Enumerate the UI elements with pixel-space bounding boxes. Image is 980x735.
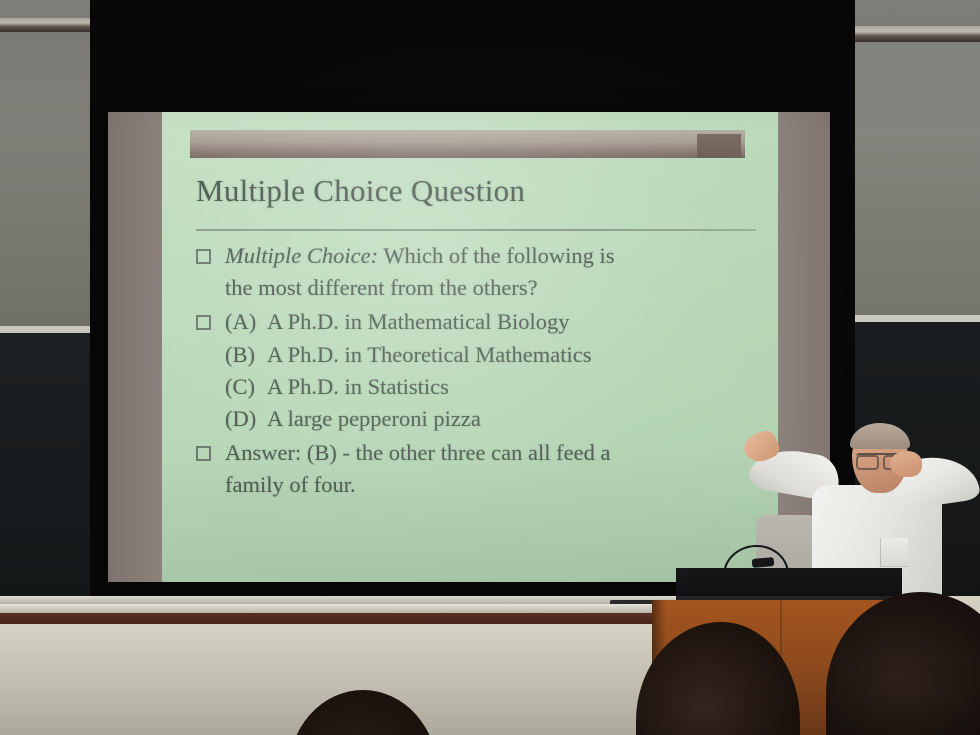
answer-line-2: family of four. bbox=[225, 472, 356, 497]
choice-list: (A)A Ph.D. in Mathematical Biology (B)A … bbox=[225, 306, 766, 435]
presenter-hair bbox=[850, 423, 910, 449]
wall-panel-right bbox=[855, 42, 980, 318]
slide-title-rule bbox=[196, 229, 756, 231]
microphone-capsule-icon bbox=[752, 557, 775, 568]
chalkboard-left bbox=[0, 333, 95, 621]
choice-tag-c: (C) bbox=[225, 371, 267, 403]
choice-tag-b: (B) bbox=[225, 339, 267, 371]
lecture-hall-photo: Multiple Choice Question Multiple Choice… bbox=[0, 0, 980, 735]
slide-body: Multiple Choice: Which of the following … bbox=[190, 240, 766, 503]
choice-item-d: (D)A large pepperoni pizza bbox=[225, 403, 766, 435]
choice-item-b: (B)A Ph.D. in Theoretical Mathematics bbox=[225, 339, 766, 371]
presenter-shirt-pocket bbox=[880, 538, 908, 567]
projector-screen: Multiple Choice Question Multiple Choice… bbox=[108, 112, 830, 582]
presenter-right-hand bbox=[890, 451, 922, 477]
square-bullet-icon bbox=[196, 446, 211, 461]
square-bullet-icon bbox=[196, 249, 211, 264]
choice-tag-a: (A) bbox=[225, 306, 267, 338]
choice-item-c: (C)A Ph.D. in Statistics bbox=[225, 371, 766, 403]
question-lead-label: Multiple Choice: bbox=[225, 243, 378, 268]
presentation-slide: Multiple Choice Question Multiple Choice… bbox=[162, 112, 778, 582]
slide-bullet-question: Multiple Choice: Which of the following … bbox=[190, 240, 766, 304]
answer-text: Answer: (B) - the other three can all fe… bbox=[225, 437, 766, 501]
slide-bullet-choices: (A)A Ph.D. in Mathematical Biology (B)A … bbox=[190, 306, 766, 435]
choice-text-b: A Ph.D. in Theoretical Mathematics bbox=[267, 342, 592, 367]
choice-text-a: A Ph.D. in Mathematical Biology bbox=[267, 309, 569, 334]
wall-panel-left bbox=[0, 34, 92, 330]
wall-panel-edge-right bbox=[855, 315, 980, 322]
slide-bullet-answer: Answer: (B) - the other three can all fe… bbox=[190, 437, 766, 501]
answer-line-1: Answer: (B) - the other three can all fe… bbox=[225, 440, 610, 465]
choice-text-d: A large pepperoni pizza bbox=[267, 406, 481, 431]
question-line-2: the most different from the others? bbox=[225, 275, 538, 300]
slide-decorative-bar-accent bbox=[697, 134, 741, 158]
choice-tag-d: (D) bbox=[225, 403, 267, 435]
question-text: Multiple Choice: Which of the following … bbox=[225, 240, 766, 304]
square-bullet-icon bbox=[196, 315, 211, 330]
question-line-1: Which of the following is bbox=[383, 243, 614, 268]
wall-molding-right bbox=[853, 26, 980, 42]
slide-decorative-bar bbox=[190, 130, 745, 158]
slide-title: Multiple Choice Question bbox=[196, 174, 756, 208]
choice-text-c: A Ph.D. in Statistics bbox=[267, 374, 449, 399]
screen-mat-left bbox=[108, 112, 162, 582]
choice-item-a: (A)A Ph.D. in Mathematical Biology bbox=[225, 306, 766, 338]
wall-molding-left bbox=[0, 18, 95, 32]
wall-panel-edge-left bbox=[0, 326, 92, 333]
